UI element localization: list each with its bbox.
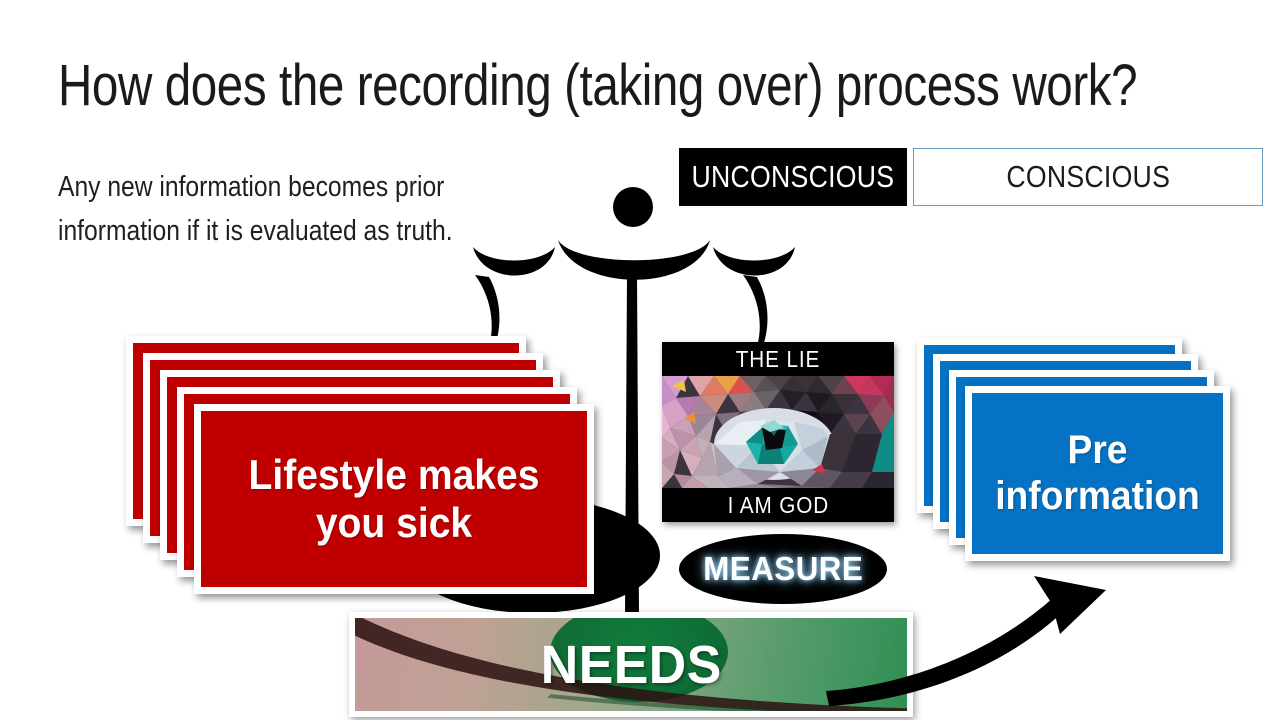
card-stack-right[interactable]: Pre information xyxy=(917,338,1237,588)
slide-canvas: How does the recording (taking over) pro… xyxy=(0,0,1280,720)
state-badge-conscious-label: CONSCIOUS xyxy=(1006,159,1170,195)
state-badge-unconscious[interactable]: UNCONSCIOUS xyxy=(679,148,907,206)
state-badge-unconscious-label: UNCONSCIOUS xyxy=(692,159,895,195)
card-stack-right-label: Pre information xyxy=(981,428,1214,519)
card-stack-left-front[interactable]: Lifestyle makes you sick xyxy=(194,404,594,594)
card-stack-left-label: Lifestyle makes you sick xyxy=(215,451,574,547)
needs-bar-label: NEEDS xyxy=(540,634,721,696)
state-badge-conscious[interactable]: CONSCIOUS xyxy=(913,148,1263,206)
curved-arrow-icon xyxy=(820,560,1150,720)
lie-panel-top-label: THE LIE xyxy=(736,346,821,373)
card-stack-right-front[interactable]: Pre information xyxy=(965,386,1230,561)
lie-panel-top-band: THE LIE xyxy=(662,342,894,376)
lie-panel-bottom-band: I AM GOD xyxy=(662,488,894,522)
page-title: How does the recording (taking over) pro… xyxy=(58,56,1026,117)
lie-panel[interactable]: THE LIE xyxy=(662,342,894,522)
card-stack-left[interactable]: Lifestyle makes you sick xyxy=(126,336,626,596)
slide-subtitle: Any new information becomes prior inform… xyxy=(58,165,500,253)
low-poly-eye-icon xyxy=(662,376,894,488)
lie-panel-bottom-label: I AM GOD xyxy=(727,492,829,519)
